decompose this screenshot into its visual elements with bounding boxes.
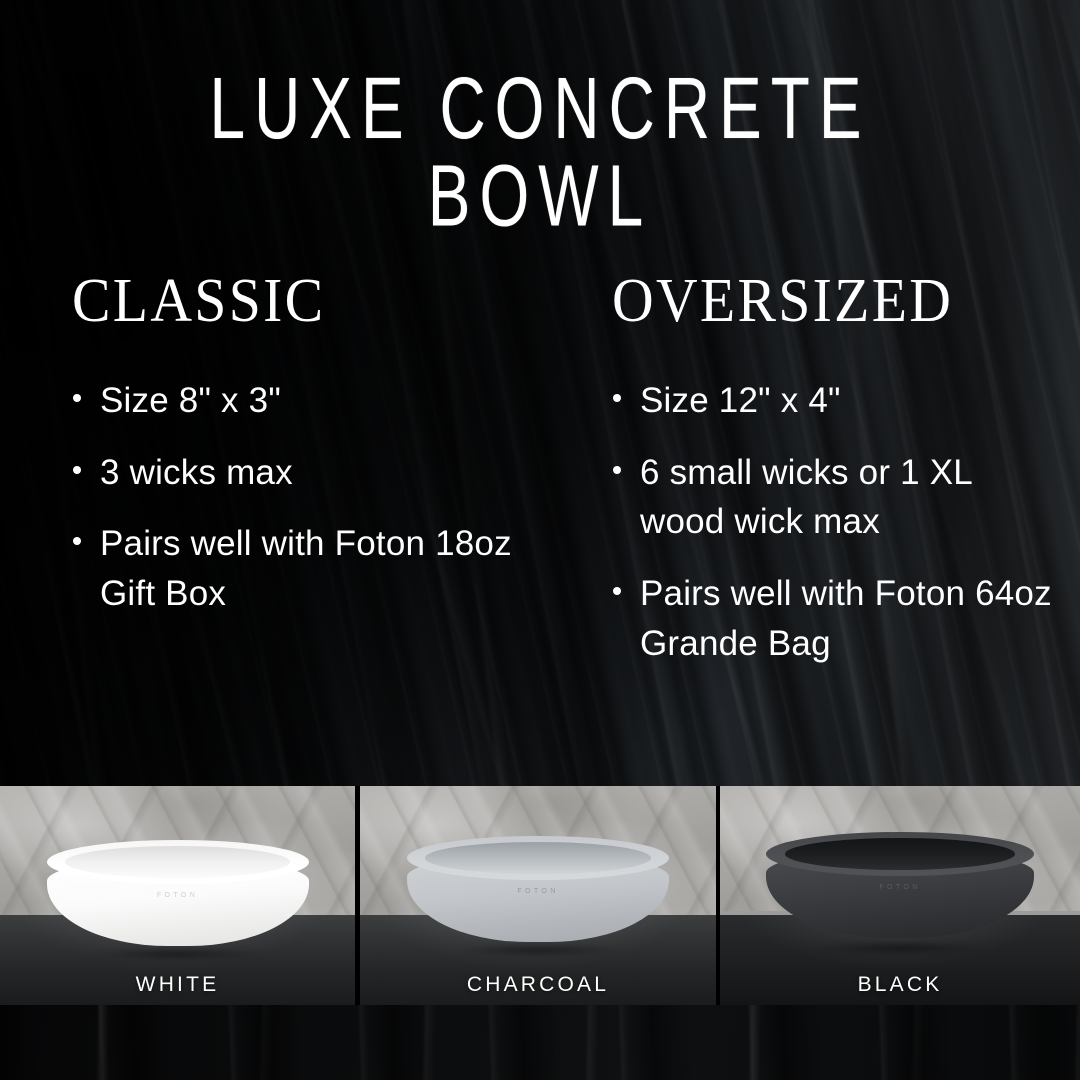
product-infographic: LUXE CONCRETE BOWL CLASSIC Size 8" x 3" … <box>0 0 1080 1080</box>
list-item: Pairs well with Foton 64oz Grande Bag <box>610 569 1058 668</box>
footer-slate-texture <box>0 1005 1080 1080</box>
list-item: Size 8" x 3" <box>70 376 566 426</box>
page-title-text: LUXE CONCRETE BOWL <box>97 64 983 239</box>
colorway-photo-black[interactable]: FOTON BLACK <box>720 786 1080 1005</box>
colorway-label-white: WHITE <box>0 973 355 997</box>
bowl-product-image-charcoal: FOTON <box>407 836 669 950</box>
brand-mark: FOTON <box>517 888 558 895</box>
bowl-product-image-white: FOTON <box>47 840 309 954</box>
list-item: 6 small wicks or 1 XL wood wick max <box>610 448 1058 547</box>
page-title: LUXE CONCRETE BOWL <box>97 64 983 239</box>
colorway-photo-charcoal[interactable]: FOTON CHARCOAL <box>360 786 716 1005</box>
variant-column-oversized: OVERSIZED Size 12" x 4" 6 small wicks or… <box>606 270 1058 690</box>
variant-column-classic: CLASSIC Size 8" x 3" 3 wicks max Pairs w… <box>66 270 566 641</box>
colorway-photo-strip: FOTON WHITE FOTON CHARCOAL <box>0 786 1080 1005</box>
bowl-interior <box>65 846 290 878</box>
variant-heading-oversized: OVERSIZED <box>612 270 1027 332</box>
list-item: Pairs well with Foton 18oz Gift Box <box>70 519 566 618</box>
variant-columns: CLASSIC Size 8" x 3" 3 wicks max Pairs w… <box>0 270 1080 690</box>
list-item: Size 12" x 4" <box>610 376 1058 426</box>
list-item: 3 wicks max <box>70 448 566 498</box>
bowl-shadow <box>777 940 1024 956</box>
bowl-interior <box>785 838 1015 870</box>
colorway-label-charcoal: CHARCOAL <box>360 973 716 997</box>
bowl-product-image-black: FOTON <box>766 832 1034 948</box>
variant-heading-classic: CLASSIC <box>72 270 531 332</box>
brand-mark: FOTON <box>157 892 198 899</box>
colorway-label-black: BLACK <box>720 973 1080 997</box>
bowl-shadow <box>57 946 298 962</box>
colorway-photo-white[interactable]: FOTON WHITE <box>0 786 355 1005</box>
feature-list-oversized: Size 12" x 4" 6 small wicks or 1 XL wood… <box>606 376 1058 668</box>
bowl-interior <box>425 842 650 874</box>
bowl-shadow <box>417 942 658 958</box>
footer-slate-band <box>0 1005 1080 1080</box>
brand-mark: FOTON <box>879 884 920 891</box>
feature-list-classic: Size 8" x 3" 3 wicks max Pairs well with… <box>66 376 566 619</box>
